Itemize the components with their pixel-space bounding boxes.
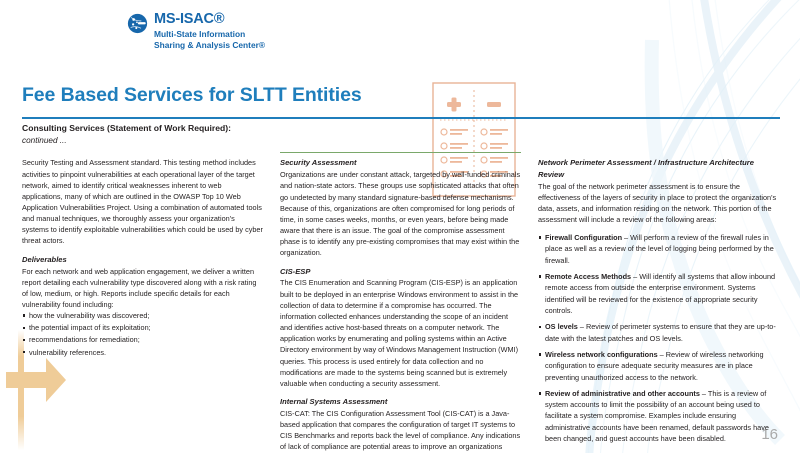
bullet-lead: OS levels xyxy=(545,322,578,331)
list-item: recommendations for remediation; xyxy=(22,334,263,345)
list-item: Remote Access Methods – Will identify al… xyxy=(538,271,780,316)
cis-esp-paragraph: The CIS Enumeration and Scanning Program… xyxy=(280,277,521,389)
content-columns: Security Testing and Assessment standard… xyxy=(22,152,780,453)
network-perimeter-paragraph: The goal of the network perimeter assess… xyxy=(538,181,780,226)
internal-systems-paragraph: CIS-CAT: The CIS Configuration Assessmen… xyxy=(280,408,521,453)
list-item: vulnerability references. xyxy=(22,347,263,358)
left-intro-paragraph: Security Testing and Assessment standard… xyxy=(22,157,263,246)
column-left: Security Testing and Assessment standard… xyxy=(22,152,263,453)
list-item: how the vulnerability was discovered; xyxy=(22,310,263,321)
bullet-lead: Firewall Configuration xyxy=(545,233,622,242)
ms-isac-logo: MS-ISAC® Multi-State Information Sharing… xyxy=(127,12,265,51)
deliverables-heading: Deliverables xyxy=(22,254,263,265)
logo-title: MS-ISAC® xyxy=(154,12,265,27)
list-item: Wireless network configurations – Review… xyxy=(538,349,780,382)
deliverables-bullet-list: how the vulnerability was discovered; th… xyxy=(22,310,263,358)
deliverables-paragraph: For each network and web application eng… xyxy=(22,266,263,311)
section-kicker: Consulting Services (Statement of Work R… xyxy=(22,123,231,146)
right-column-rule-spacer xyxy=(538,152,780,153)
bullet-lead: Review of administrative and other accou… xyxy=(545,389,700,398)
list-item: the potential impact of its exploitation… xyxy=(22,322,263,333)
bullet-text: – Review of perimeter systems to ensure … xyxy=(545,322,776,342)
column-middle: Security Assessment Organizations are un… xyxy=(280,152,521,453)
logo-tagline-line1: Multi-State Information xyxy=(154,29,265,40)
network-perimeter-bullet-list: Firewall Configuration – Will perform a … xyxy=(538,232,780,444)
globe-icon xyxy=(127,13,148,34)
list-item: Firewall Configuration – Will perform a … xyxy=(538,232,780,265)
internal-systems-heading: Internal Systems Assessment xyxy=(280,396,521,407)
continued-label: continued ... xyxy=(22,135,231,146)
middle-column-green-rule xyxy=(280,152,521,153)
document-page: MS-ISAC® Multi-State Information Sharing… xyxy=(0,0,800,453)
page-title: Fee Based Services for SLTT Entities xyxy=(22,84,362,107)
logo-tagline-line2: Sharing & Analysis Center® xyxy=(154,40,265,51)
cis-esp-heading: CIS-ESP xyxy=(280,266,521,277)
title-divider xyxy=(22,117,780,119)
security-assessment-heading: Security Assessment xyxy=(280,157,521,168)
bullet-lead: Wireless network configurations xyxy=(545,350,658,359)
security-assessment-paragraph: Organizations are under constant attack,… xyxy=(280,169,521,258)
section-label: Consulting Services (Statement of Work R… xyxy=(22,123,231,135)
list-item: OS levels – Review of perimeter systems … xyxy=(538,321,780,343)
left-column-rule-spacer xyxy=(22,152,263,153)
column-right: Network Perimeter Assessment / Infrastru… xyxy=(538,152,780,453)
network-perimeter-heading: Network Perimeter Assessment / Infrastru… xyxy=(538,157,780,180)
list-item: Review of administrative and other accou… xyxy=(538,388,780,444)
bullet-lead: Remote Access Methods xyxy=(545,272,631,281)
